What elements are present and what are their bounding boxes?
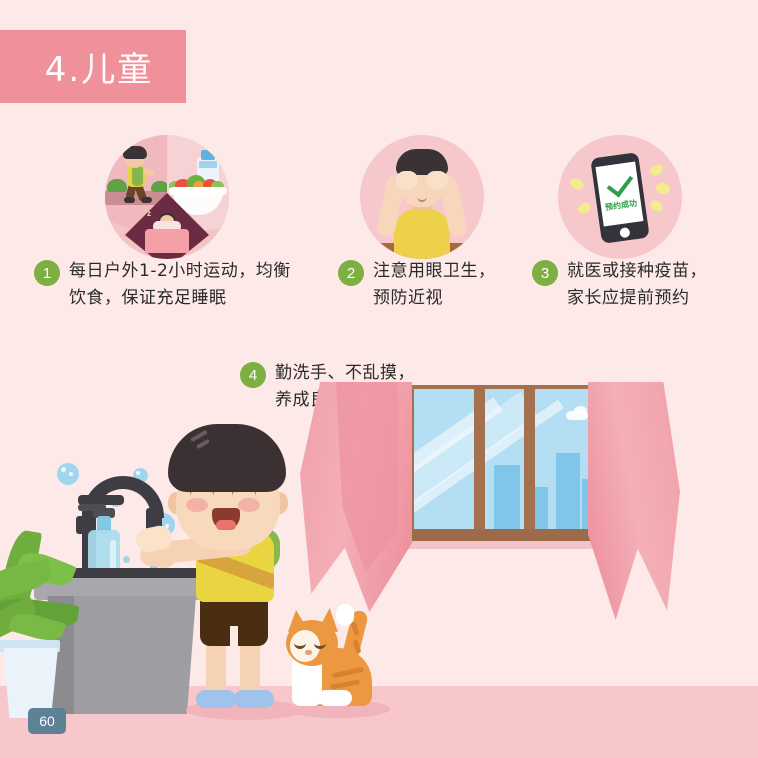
home-button-icon [619,227,630,238]
bed-blanket [145,229,189,253]
tip-text: 就医或接种疫苗， 家长应提前预约 [567,258,707,312]
window-mullion [474,385,485,533]
boy-shoe-left [196,690,236,708]
boy-cheek-right [238,498,260,512]
section-title-text: 4.儿童 [33,42,153,91]
boy-tongue [216,520,236,530]
faucet-knob [76,516,86,534]
window-sill-shadow [398,541,622,549]
runner-vest [132,166,143,186]
illustration-exercise-diet-sleep: z [105,135,229,259]
child-shirt [394,209,450,259]
boy-shorts-gap [230,626,238,648]
building [556,453,580,529]
appointment-success-text: 预约成功 [600,197,641,213]
boy-cheek-left [186,498,208,512]
building [494,465,520,529]
bottle-cap [201,150,215,160]
tip-item-2: 2 注意用眼卫生， 预防近视 [338,258,528,312]
child-hand-left [396,171,418,189]
cat-paw-rear [318,690,352,706]
sleep-zzz-icon: z [147,209,151,218]
bush-icon [107,179,127,192]
check-icon [607,169,633,197]
tip-text: 注意用眼卫生， 预防近视 [373,258,496,312]
smartphone: 预约成功 [590,152,650,244]
boy-shoe-right [234,690,274,708]
poster-page: 4.儿童 z [0,0,758,758]
phone-screen: 预约成功 [595,162,643,227]
tip-number-badge: 2 [338,260,364,286]
window-glass [414,389,606,529]
runner-hair [123,146,147,159]
soap-bubble [57,463,79,485]
tip-item-1: 1 每日户外1-2小时运动，均衡 饮食，保证充足睡眠 [34,258,334,312]
window-mullion [524,385,535,533]
runner-shoe [141,197,152,203]
tip-item-3: 3 就医或接种疫苗， 家长应提前预约 [532,258,752,312]
tip-number-badge: 1 [34,260,60,286]
cloud-icon [574,406,587,415]
soap-bubble [123,556,130,563]
shine-ray [648,162,664,177]
section-title-banner: 4.儿童 [0,30,186,103]
bottle-label [199,161,217,168]
illustration-appointment: 预约成功 [558,135,682,259]
salad-bowl-rim [169,187,227,195]
shine-ray [569,177,586,192]
bush-icon [151,181,169,192]
tip-text: 每日户外1-2小时运动，均衡 饮食，保证充足睡眠 [69,258,291,312]
shine-ray [648,198,664,214]
illustration-eye-hygiene [360,135,484,259]
shine-ray [655,182,671,195]
runner-shoe [124,197,135,203]
cat-paw-front [294,688,316,706]
child-hand-right [426,171,448,189]
cat-nose [305,650,312,655]
shine-ray [576,201,592,216]
page-number-badge: 60 [28,708,66,734]
tip-number-badge: 3 [532,260,558,286]
tip-number-badge: 4 [240,362,266,388]
